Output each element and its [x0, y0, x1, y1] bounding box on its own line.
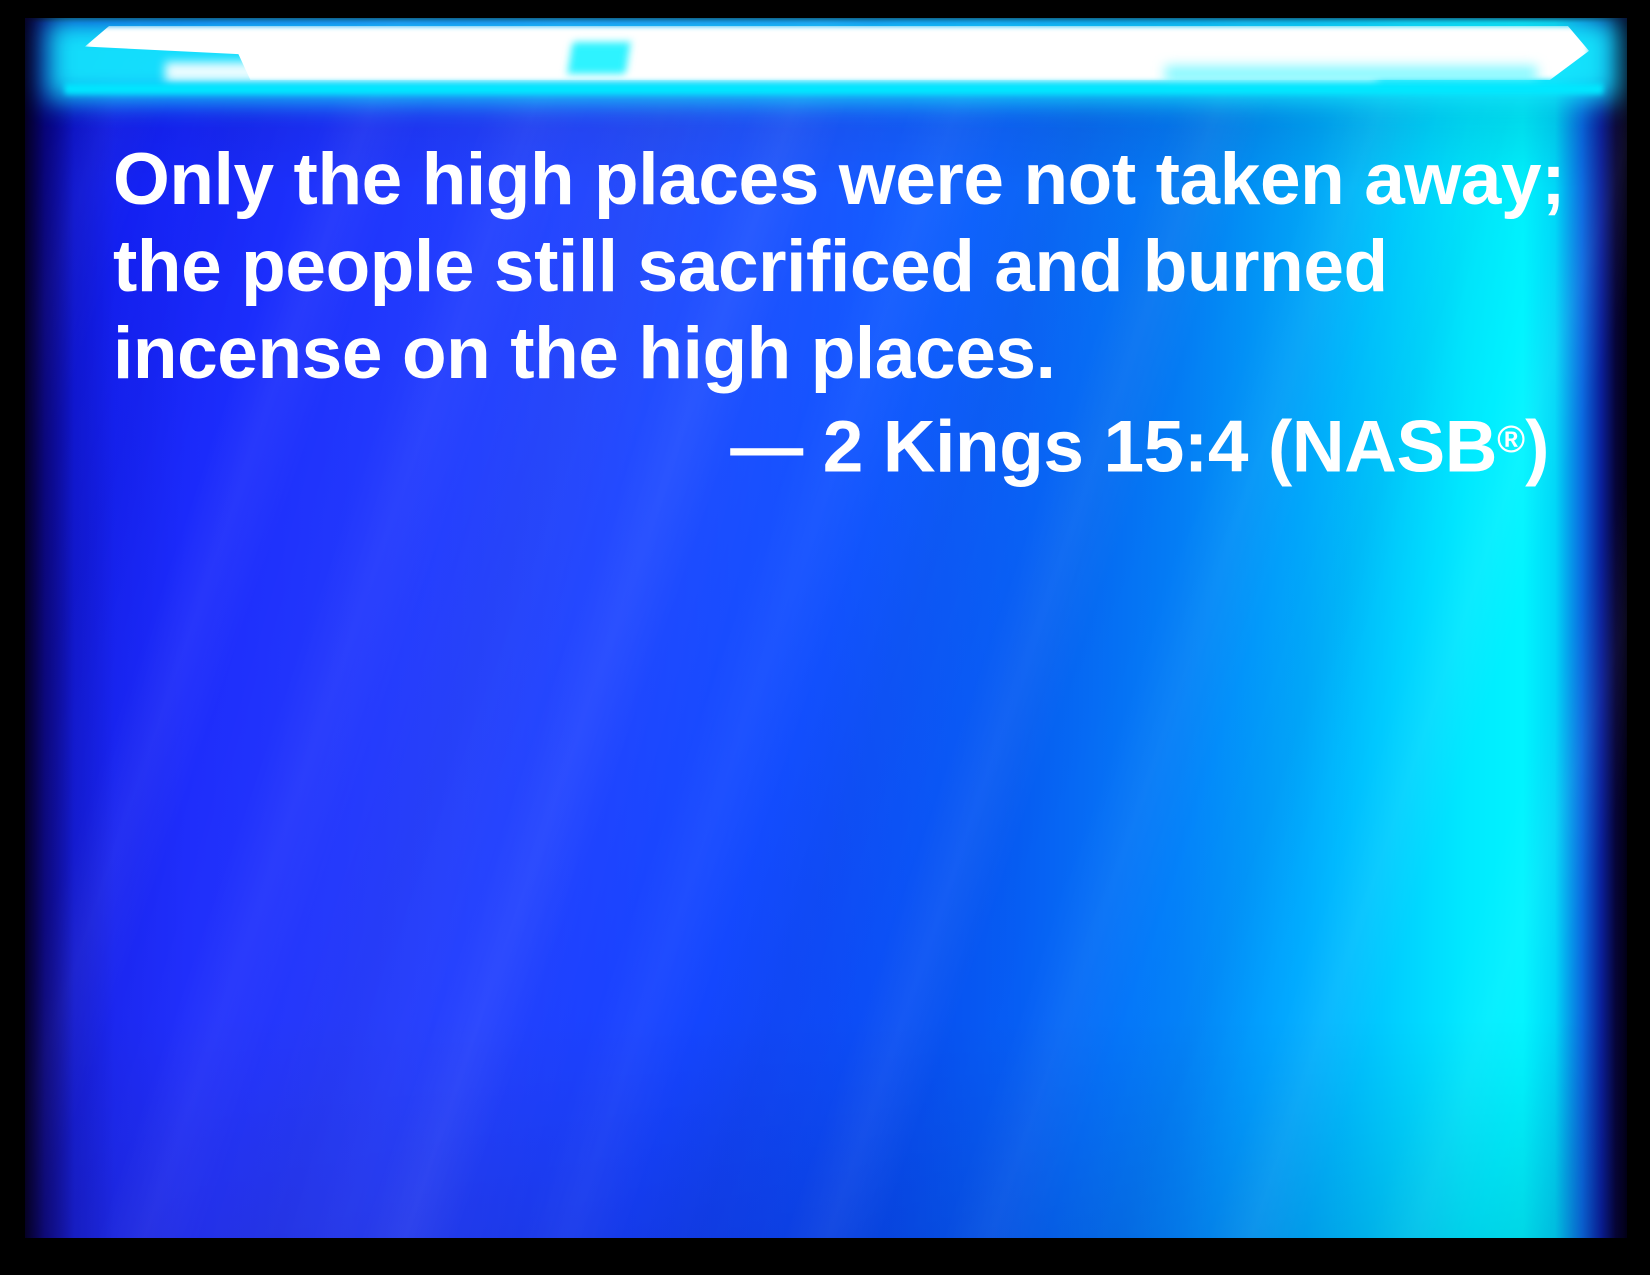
attribution-chapter-verse: 15:4 — [1104, 407, 1249, 488]
attribution-spacer-2 — [1084, 407, 1104, 488]
verse-attribution: — 2 Kings 15:4 (NASB®) — [113, 397, 1553, 491]
top-cyan-notch — [567, 42, 630, 74]
attribution-book: 2 Kings — [823, 407, 1084, 488]
attribution-spacer-3 — [1248, 407, 1268, 488]
top-glow-bar — [25, 18, 1627, 128]
attribution-spacer-1 — [803, 407, 823, 488]
attribution-em-dash: — — [730, 407, 803, 488]
attribution-close-paren: ) — [1525, 407, 1549, 488]
slide-canvas: Only the high places were not taken away… — [25, 18, 1627, 1238]
top-cyan-underline — [65, 84, 1603, 94]
verse-line-3: incense on the high places. — [113, 310, 1553, 397]
verse-text-block: Only the high places were not taken away… — [113, 136, 1553, 491]
verse-line-1: Only the high places were not taken away… — [113, 136, 1553, 223]
attribution-translation: NASB — [1292, 407, 1497, 488]
registered-trademark-icon: ® — [1497, 419, 1525, 461]
attribution-open-paren: ( — [1268, 407, 1292, 488]
slide-frame: Only the high places were not taken away… — [0, 0, 1650, 1275]
verse-line-2: the people still sacrificed and burned — [113, 223, 1553, 310]
background-left-edge-shade — [25, 18, 115, 1238]
top-cyan-wash — [1165, 66, 1537, 82]
